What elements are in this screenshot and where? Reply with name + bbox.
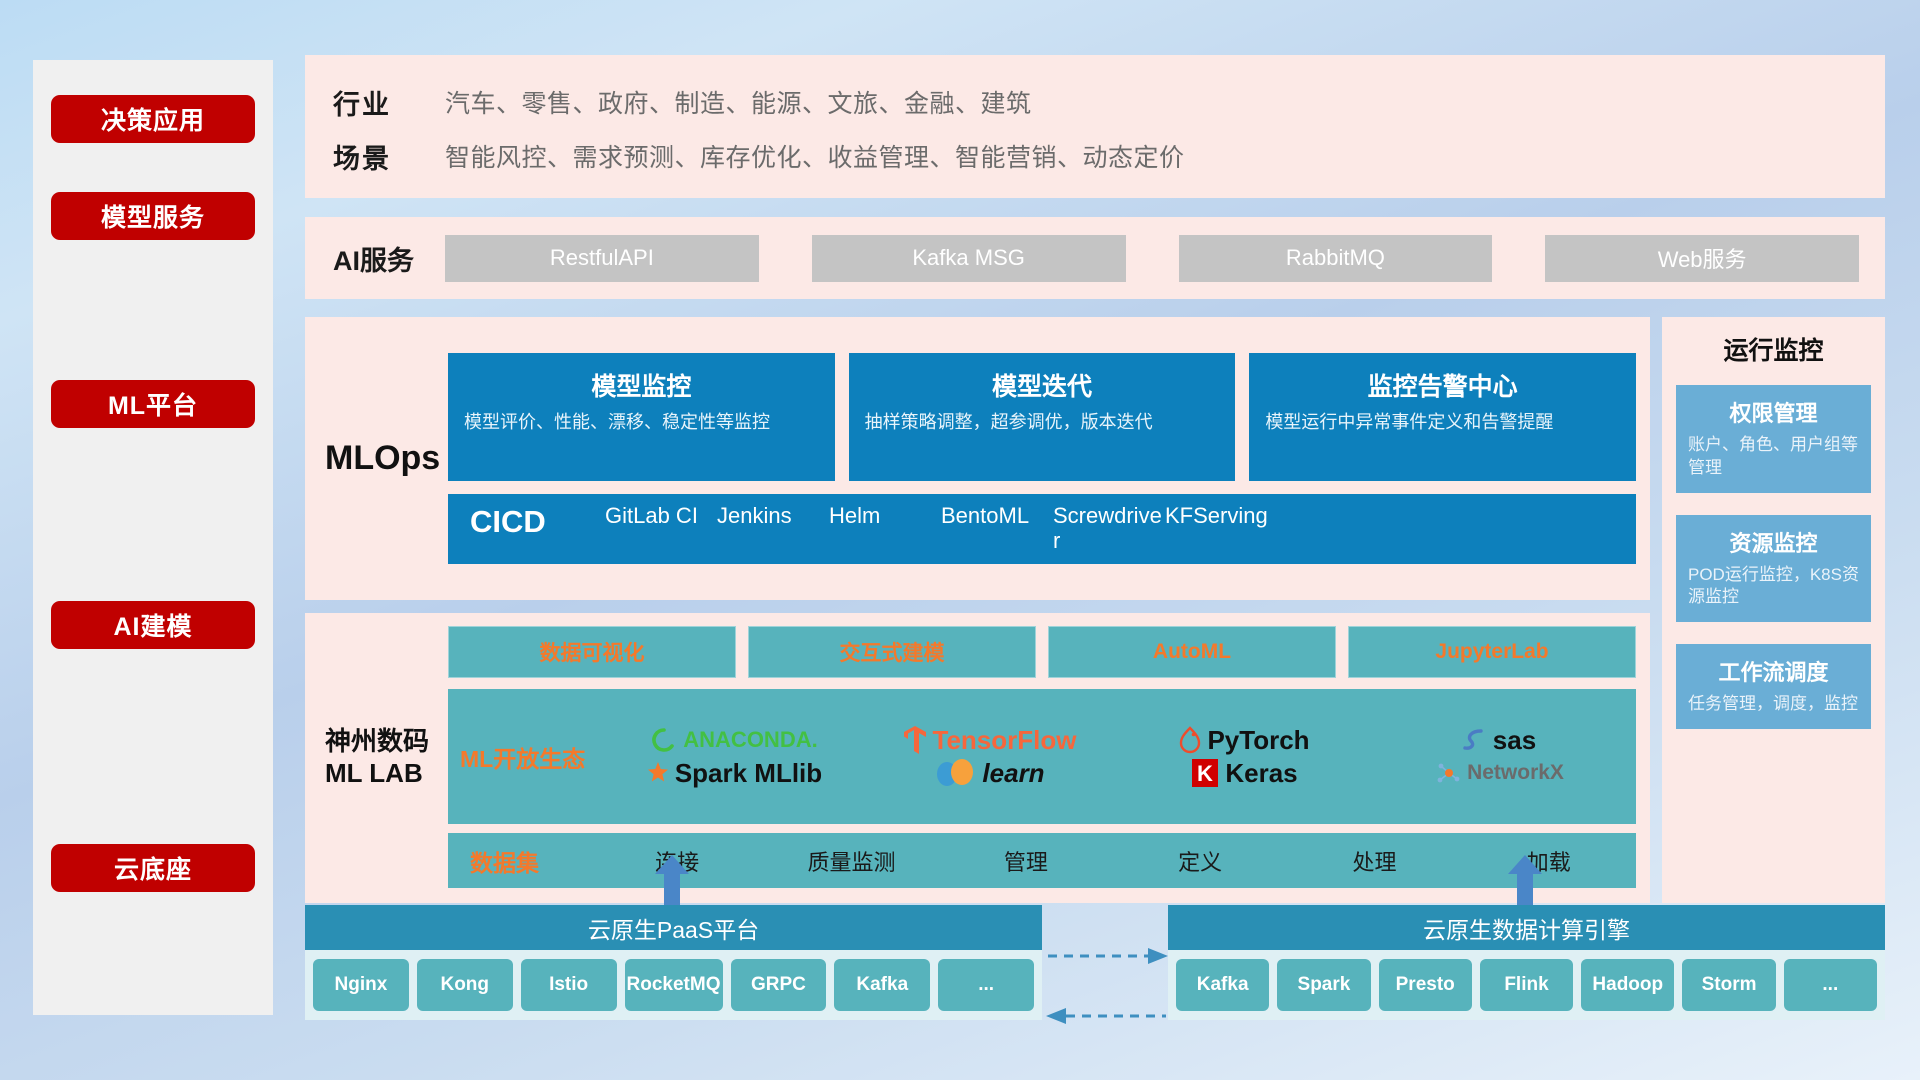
monitor-card-resource[interactable]: 资源监控 POD运行监控，K8S资源监控 xyxy=(1676,515,1871,623)
ai-service-button-kafka-msg[interactable]: Kafka MSG xyxy=(812,235,1126,282)
dataset-item-process[interactable]: 处理 xyxy=(1287,845,1461,877)
sas-logo-text: sas xyxy=(1493,725,1536,756)
card-desc: POD运行监控，K8S资源监控 xyxy=(1688,564,1859,610)
cicd-item-bentoml[interactable]: BentoML xyxy=(941,504,1053,553)
chip-more[interactable]: ... xyxy=(938,959,1034,1011)
dataset-item-list: 连接 质量监测 管理 定义 处理 加载 xyxy=(590,845,1636,877)
rail-item-label: 决策应用 xyxy=(101,101,205,137)
anaconda-mark-icon xyxy=(651,727,677,753)
chip-hadoop[interactable]: Hadoop xyxy=(1581,959,1674,1011)
tab-interactive-modeling[interactable]: 交互式建模 xyxy=(748,626,1036,678)
mlops-content: 模型监控 模型评价、性能、漂移、稳定性等监控 模型迭代 抽样策略调整，超参调优，… xyxy=(448,339,1650,578)
applications-band: 行业 汽车、零售、政府、制造、能源、文旅、金融、建筑 场景 智能风控、需求预测、… xyxy=(305,55,1885,198)
up-arrow-paas-icon xyxy=(655,855,689,907)
chip-grpc[interactable]: GRPC xyxy=(731,959,827,1011)
rail-item-label: 云底座 xyxy=(114,850,192,886)
chip-kafka[interactable]: Kafka xyxy=(834,959,930,1011)
cloud-data-engine-chip-list: Kafka Spark Presto Flink Hadoop Storm ..… xyxy=(1168,950,1885,1020)
cicd-item-jenkins[interactable]: Jenkins xyxy=(717,504,829,553)
mlops-band: MLOps 模型监控 模型评价、性能、漂移、稳定性等监控 模型迭代 抽样策略调整… xyxy=(305,317,1650,600)
tensorflow-logo-text: TensorFlow xyxy=(933,725,1077,756)
ai-service-buttons: RestfulAPI Kafka MSG RabbitMQ Web服务 xyxy=(445,235,1885,282)
card-title: 权限管理 xyxy=(1688,396,1859,428)
modeling-tab-list: 数据可视化 交互式建模 AutoML JupyterLab xyxy=(448,626,1636,678)
card-title: 工作流调度 xyxy=(1688,655,1859,687)
ml-ecosystem-panel: ML开放生态 ANACONDA. TensorFlow xyxy=(448,689,1636,824)
ml-lab-label: 神州数码 ML LAB xyxy=(325,726,448,789)
mlops-card-alert-center[interactable]: 监控告警中心 模型运行中异常事件定义和告警提醒 xyxy=(1249,353,1636,481)
ml-ecosystem-logo-grid: ANACONDA. TensorFlow PyTorch xyxy=(610,725,1624,789)
chip-more[interactable]: ... xyxy=(1784,959,1877,1011)
ai-service-band: AI服务 RestfulAPI Kafka MSG RabbitMQ Web服务 xyxy=(305,217,1885,299)
networkx-logo-text: NetworkX xyxy=(1467,761,1564,785)
scikit-learn-logo: learn xyxy=(934,758,1044,789)
cicd-title: CICD xyxy=(470,504,605,540)
chip-presto[interactable]: Presto xyxy=(1379,959,1472,1011)
ai-service-button-restfulapi[interactable]: RestfulAPI xyxy=(445,235,759,282)
scenario-value: 智能风控、需求预测、库存优化、收益管理、智能营销、动态定价 xyxy=(445,138,1185,174)
pytorch-flame-icon xyxy=(1179,726,1201,754)
cloud-data-engine-title: 云原生数据计算引擎 xyxy=(1168,905,1885,950)
cicd-item-list: GitLab CI Jenkins Helm BentoML Screwdriv… xyxy=(605,504,1636,553)
tab-jupyterlab[interactable]: JupyterLab xyxy=(1348,626,1636,678)
card-title: 模型迭代 xyxy=(865,367,1220,403)
networkx-graph-icon xyxy=(1435,760,1461,786)
keras-logo: K Keras xyxy=(1191,758,1297,789)
cicd-item-gitlab-ci[interactable]: GitLab CI xyxy=(605,504,717,553)
scikit-learn-logo-text: learn xyxy=(982,758,1044,789)
rail-item-model-service[interactable]: 模型服务 xyxy=(51,192,255,240)
card-title: 资源监控 xyxy=(1688,526,1859,558)
spark-mllib-logo: Spark MLlib xyxy=(647,758,822,789)
card-desc: 模型运行中异常事件定义和告警提醒 xyxy=(1265,411,1620,435)
mlops-label: MLOps xyxy=(325,439,448,478)
chip-storm[interactable]: Storm xyxy=(1682,959,1775,1011)
chip-spark[interactable]: Spark xyxy=(1277,959,1370,1011)
dataset-item-load[interactable]: 加载 xyxy=(1462,845,1636,877)
rail-item-ml-platform[interactable]: ML平台 xyxy=(51,380,255,428)
pytorch-logo-text: PyTorch xyxy=(1207,725,1309,756)
cloud-paas-chip-list: Nginx Kong Istio RocketMQ GRPC Kafka ... xyxy=(305,950,1042,1020)
industry-value: 汽车、零售、政府、制造、能源、文旅、金融、建筑 xyxy=(445,84,1032,120)
cicd-item-kfserving[interactable]: KFServing xyxy=(1165,504,1277,553)
chip-kong[interactable]: Kong xyxy=(417,959,513,1011)
stack-layer-rail: 决策应用 模型服务 ML平台 AI建模 云底座 xyxy=(33,60,273,1015)
card-title: 模型监控 xyxy=(464,367,819,403)
cloud-paas-title: 云原生PaaS平台 xyxy=(305,905,1042,950)
mlops-card-model-monitoring[interactable]: 模型监控 模型评价、性能、漂移、稳定性等监控 xyxy=(448,353,835,481)
monitoring-title: 运行监控 xyxy=(1676,331,1871,367)
rail-item-cloud-base[interactable]: 云底座 xyxy=(51,844,255,892)
card-desc: 模型评价、性能、漂移、稳定性等监控 xyxy=(464,411,819,435)
ai-modeling-content: 数据可视化 交互式建模 AutoML JupyterLab ML开放生态 ANA… xyxy=(448,616,1650,900)
rail-item-decision-apps[interactable]: 决策应用 xyxy=(51,95,255,143)
cloud-data-engine-block: 云原生数据计算引擎 Kafka Spark Presto Flink Hadoo… xyxy=(1168,905,1885,1020)
applications-row-industry: 行业 汽车、零售、政府、制造、能源、文旅、金融、建筑 xyxy=(333,77,1885,127)
scenario-label: 场景 xyxy=(333,137,445,176)
tab-data-visualization[interactable]: 数据可视化 xyxy=(448,626,736,678)
ai-service-button-web-service[interactable]: Web服务 xyxy=(1545,235,1859,282)
tab-automl[interactable]: AutoML xyxy=(1048,626,1336,678)
bidirectional-link-arrows-icon xyxy=(1040,940,1172,1032)
rail-item-ai-modeling[interactable]: AI建模 xyxy=(51,601,255,649)
card-desc: 抽样策略调整，超参调优，版本迭代 xyxy=(865,411,1220,435)
mlops-card-list: 模型监控 模型评价、性能、漂移、稳定性等监控 模型迭代 抽样策略调整，超参调优，… xyxy=(448,353,1636,481)
dataset-item-manage[interactable]: 管理 xyxy=(939,845,1113,877)
ai-service-button-rabbitmq[interactable]: RabbitMQ xyxy=(1179,235,1493,282)
cicd-bar: CICD GitLab CI Jenkins Helm BentoML Scre… xyxy=(448,494,1636,564)
ml-ecosystem-label: ML开放生态 xyxy=(460,740,610,774)
networkx-logo: NetworkX xyxy=(1435,760,1564,786)
monitor-card-workflow[interactable]: 工作流调度 任务管理，调度，监控 xyxy=(1676,644,1871,729)
cicd-item-helm[interactable]: Helm xyxy=(829,504,941,553)
chip-nginx[interactable]: Nginx xyxy=(313,959,409,1011)
spark-mllib-logo-text: Spark MLlib xyxy=(675,758,822,789)
svg-text:K: K xyxy=(1197,761,1213,786)
anaconda-logo-text: ANACONDA. xyxy=(683,727,817,753)
keras-logo-text: Keras xyxy=(1225,758,1297,789)
keras-mark-icon: K xyxy=(1191,758,1219,788)
pytorch-logo: PyTorch xyxy=(1179,725,1309,756)
card-desc: 账户、角色、用户组等管理 xyxy=(1688,434,1859,480)
card-title: 监控告警中心 xyxy=(1265,367,1620,403)
dataset-item-define[interactable]: 定义 xyxy=(1113,845,1287,877)
up-arrow-data-engine-icon xyxy=(1508,855,1542,907)
rail-item-label: 模型服务 xyxy=(101,198,205,234)
rail-item-label: AI建模 xyxy=(113,607,192,643)
rail-item-label: ML平台 xyxy=(108,386,198,422)
chip-istio[interactable]: Istio xyxy=(521,959,617,1011)
chip-flink[interactable]: Flink xyxy=(1480,959,1573,1011)
tensorflow-mark-icon xyxy=(903,725,927,755)
ai-modeling-band: 神州数码 ML LAB 数据可视化 交互式建模 AutoML JupyterLa… xyxy=(305,613,1650,903)
scikit-learn-mark-icon xyxy=(934,758,976,788)
spark-star-icon xyxy=(647,761,669,785)
cicd-item-screwdriver[interactable]: Screwdriver xyxy=(1053,504,1165,553)
sas-logo: sas xyxy=(1463,725,1536,756)
ai-service-label: AI服务 xyxy=(333,239,445,278)
dataset-title: 数据集 xyxy=(470,844,590,878)
chip-rocketmq[interactable]: RocketMQ xyxy=(625,959,723,1011)
dataset-bar: 数据集 连接 质量监测 管理 定义 处理 加载 xyxy=(448,833,1636,888)
chip-kafka[interactable]: Kafka xyxy=(1176,959,1269,1011)
sas-mark-icon xyxy=(1463,727,1487,753)
applications-row-scenario: 场景 智能风控、需求预测、库存优化、收益管理、智能营销、动态定价 xyxy=(333,131,1885,181)
card-desc: 任务管理，调度，监控 xyxy=(1688,693,1859,716)
cloud-paas-block: 云原生PaaS平台 Nginx Kong Istio RocketMQ GRPC… xyxy=(305,905,1042,1020)
monitor-card-permission[interactable]: 权限管理 账户、角色、用户组等管理 xyxy=(1676,385,1871,493)
anaconda-logo: ANACONDA. xyxy=(651,727,817,753)
mlops-card-model-iteration[interactable]: 模型迭代 抽样策略调整，超参调优，版本迭代 xyxy=(849,353,1236,481)
industry-label: 行业 xyxy=(333,83,445,122)
dataset-item-quality-monitor[interactable]: 质量监测 xyxy=(764,845,938,877)
runtime-monitoring-panel: 运行监控 权限管理 账户、角色、用户组等管理 资源监控 POD运行监控，K8S资… xyxy=(1662,317,1885,903)
tensorflow-logo: TensorFlow xyxy=(903,725,1077,756)
